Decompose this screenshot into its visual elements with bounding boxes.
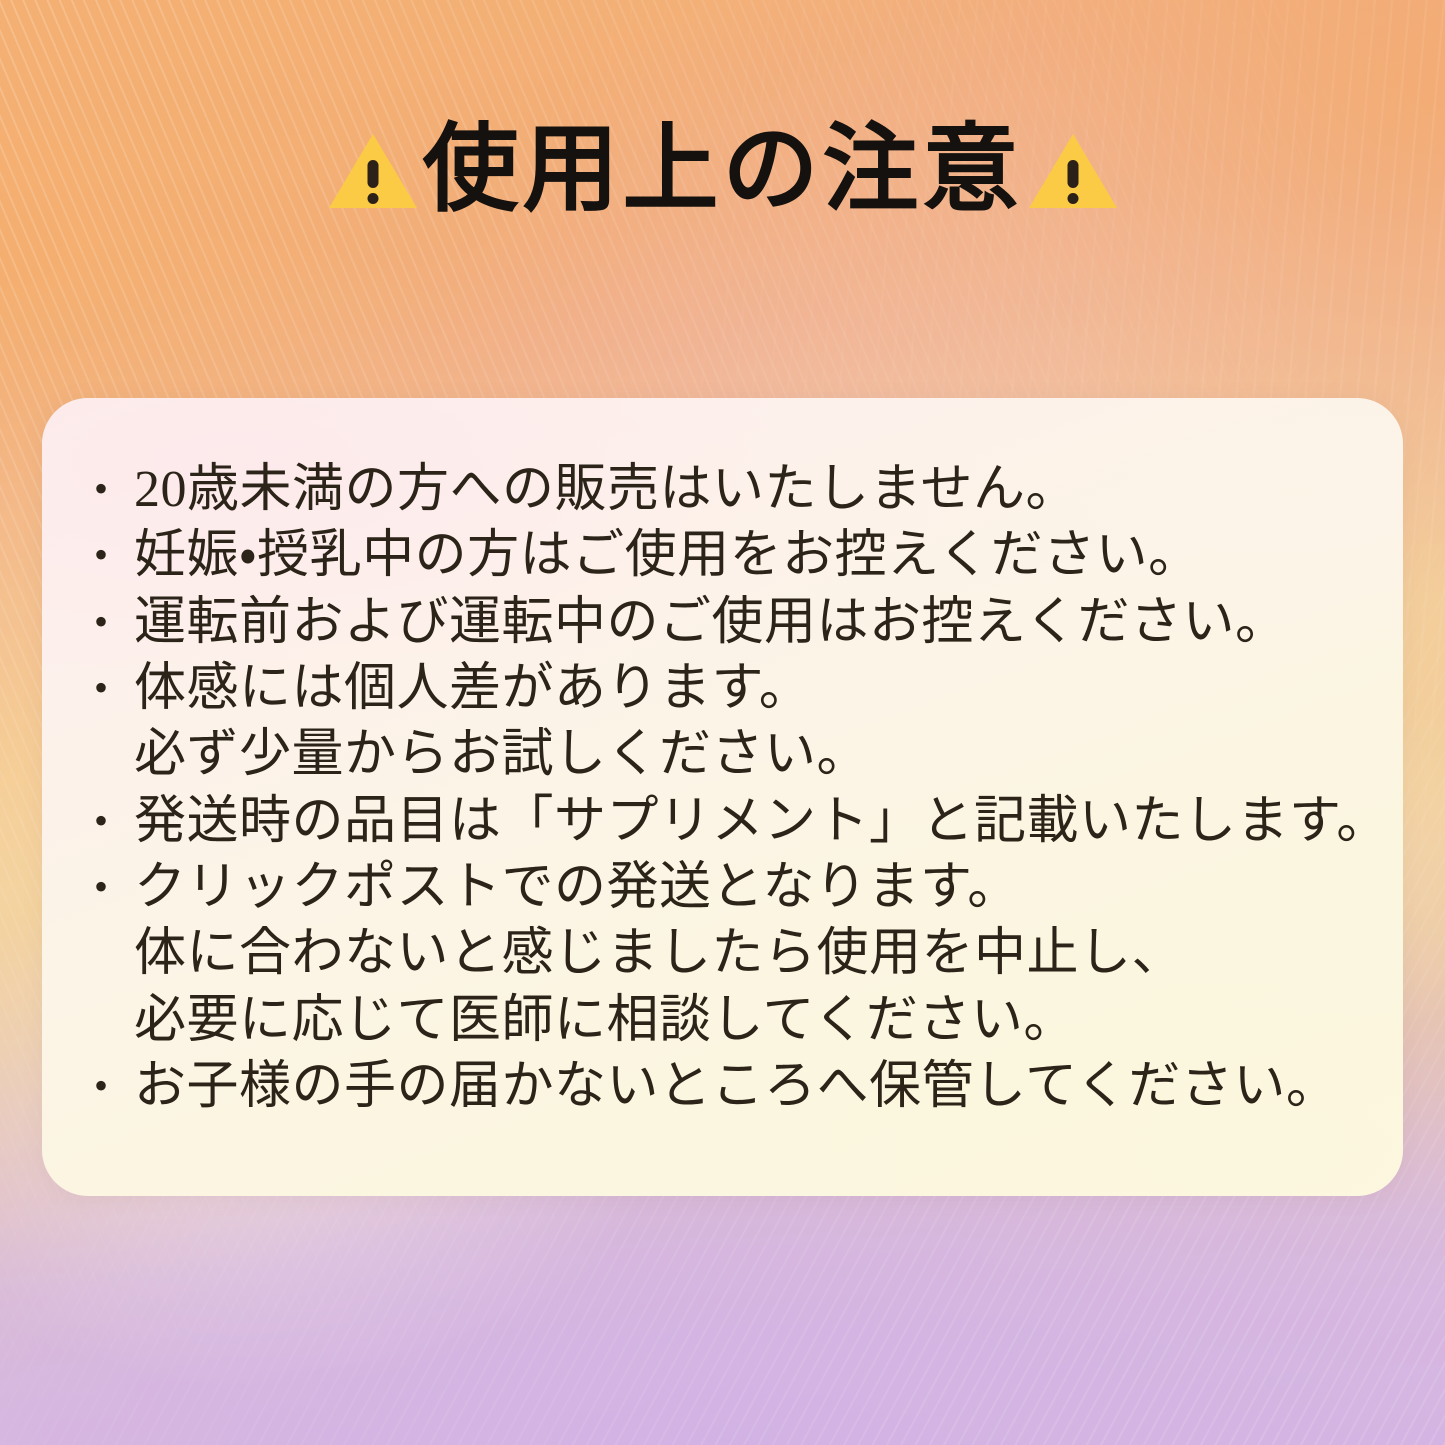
notice-item: •妊娠・授乳中の方はご使用をお控えください。 <box>94 526 1377 586</box>
warning-triangle-icon-left <box>329 130 417 210</box>
notice-item-label: 体に合わないと感じましたら使用を中止し、 <box>134 924 1377 984</box>
notice-item: •体感には個人差があります。 <box>94 659 1377 719</box>
notice-list: •20歳未満の方への販売はいたしません。•妊娠・授乳中の方はご使用をお控えくださ… <box>94 460 1377 1123</box>
bullet-icon: • <box>94 460 134 518</box>
bullet-icon: • <box>94 858 134 916</box>
notice-item-label: 発送時の品目は「サプリメント」と記載いたします。 <box>134 792 1389 852</box>
bullet-icon: • <box>94 659 134 717</box>
notice-item-label: 運転前および運転中のご使用はお控えください。 <box>134 593 1377 653</box>
notice-item: •20歳未満の方への販売はいたしません。 <box>94 460 1377 520</box>
notice-item: •発送時の品目は「サプリメント」と記載いたします。 <box>94 792 1377 852</box>
notice-item-continuation: •体に合わないと感じましたら使用を中止し、 <box>94 924 1377 984</box>
notice-item: •運転前および運転中のご使用はお控えください。 <box>94 593 1377 653</box>
page-title: 使用上の注意 <box>0 118 1445 222</box>
bullet-icon: • <box>94 526 134 584</box>
notice-item-label: 必要に応じて医師に相談してください。 <box>134 991 1377 1051</box>
bullet-icon: • <box>94 593 134 651</box>
notice-item-label: 必ず少量からお試しください。 <box>134 725 1377 785</box>
notice-item-label: お子様の手の届かないところへ保管してください。 <box>134 1057 1377 1117</box>
warning-notice-poster: 使用上の注意 •20歳未満の方への販売はいたしません。•妊娠・授乳中の方はご使用… <box>0 0 1445 1445</box>
page-title-text: 使用上の注意 <box>423 118 1023 222</box>
notice-item-label: 体感には個人差があります。 <box>134 659 1377 719</box>
warning-triangle-icon-right <box>1029 130 1117 210</box>
notice-item: •クリックポストでの発送となります。 <box>94 858 1377 918</box>
notice-card: •20歳未満の方への販売はいたしません。•妊娠・授乳中の方はご使用をお控えくださ… <box>42 398 1403 1196</box>
bullet-icon: • <box>94 1057 134 1115</box>
notice-item-label: クリックポストでの発送となります。 <box>134 858 1377 918</box>
notice-item-label: 妊娠・授乳中の方はご使用をお控えください。 <box>134 526 1377 586</box>
notice-item-continuation: •必ず少量からお試しください。 <box>94 725 1377 785</box>
notice-item-continuation: •必要に応じて医師に相談してください。 <box>94 991 1377 1051</box>
notice-item-label: 20歳未満の方への販売はいたしません。 <box>134 460 1377 520</box>
notice-item: •お子様の手の届かないところへ保管してください。 <box>94 1057 1377 1117</box>
bullet-icon: • <box>94 792 134 850</box>
